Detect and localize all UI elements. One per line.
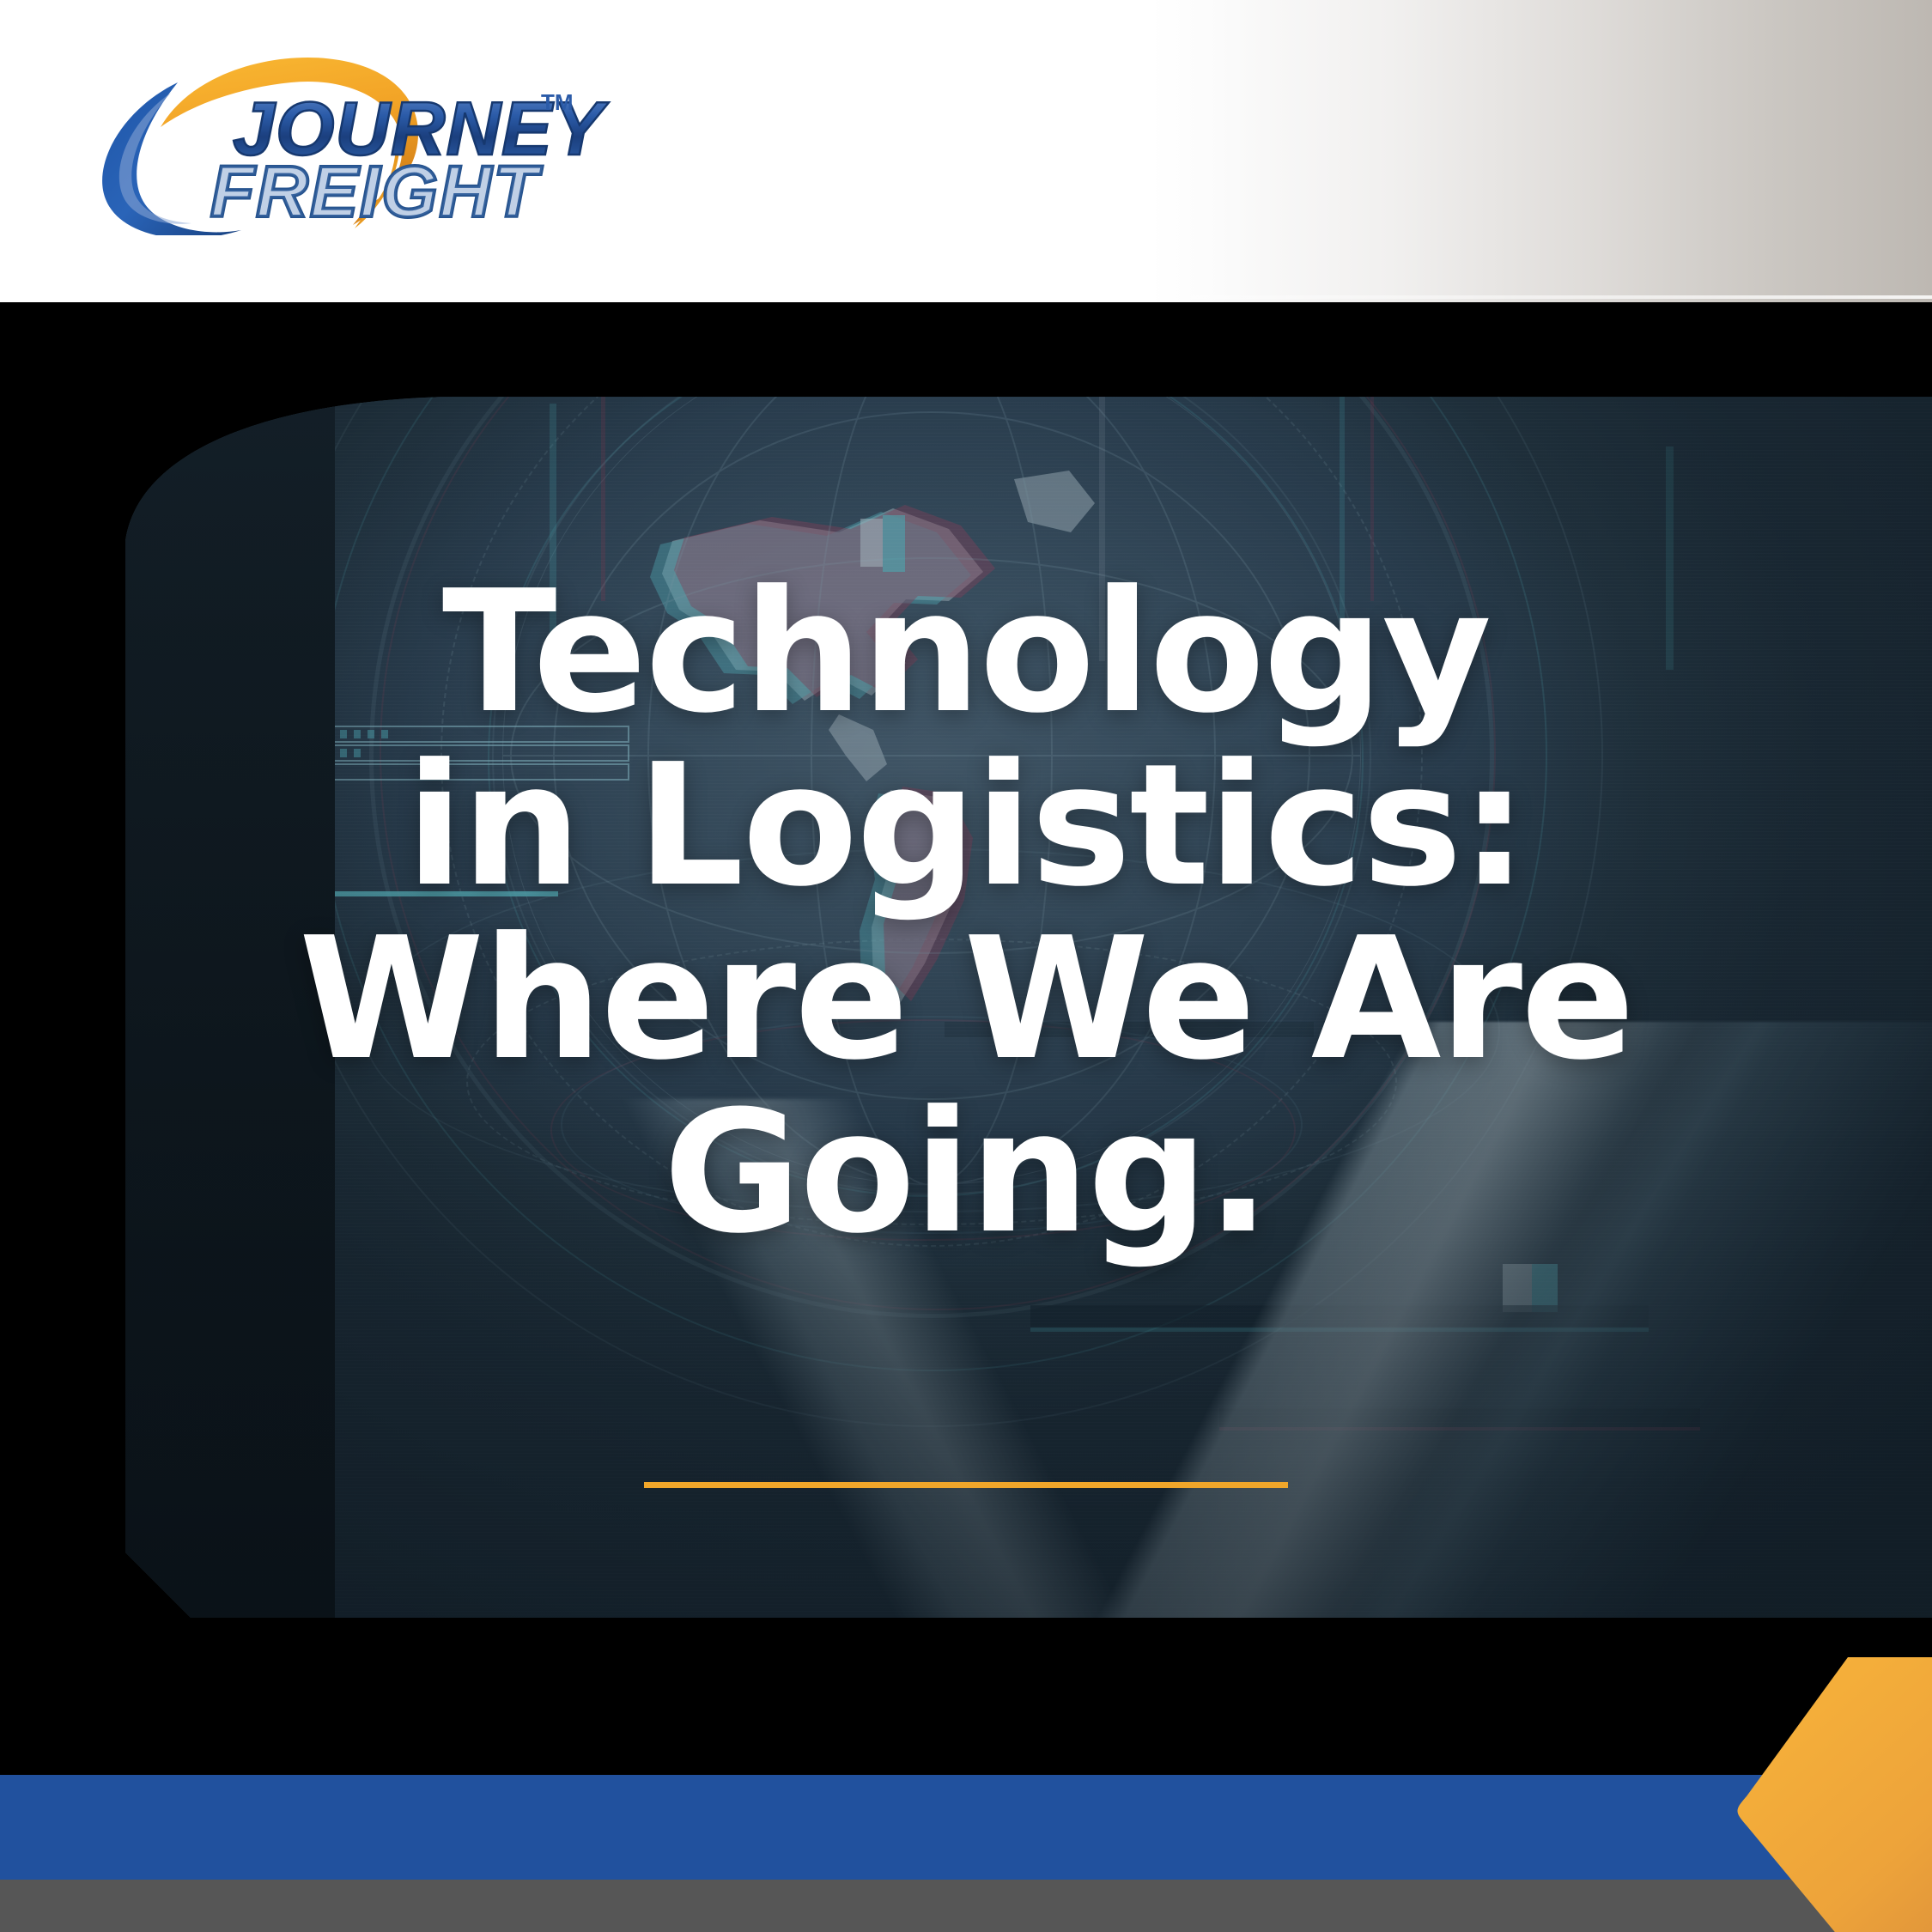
headline-line-3: Where We Are [129,914,1803,1087]
header-hairline [1151,295,1932,299]
social-post-card: JOURNEY JOURNEY TM FREIGHT FREIGHT [0,0,1932,1932]
footer-blue-band [0,1775,1932,1880]
chevron-arrow-icon [1735,1657,1932,1932]
page-title: Technology in Logistics: Where We Are Go… [0,567,1932,1261]
journey-freight-logo[interactable]: JOURNEY JOURNEY TM FREIGHT FREIGHT [82,45,614,235]
headline-line-2: in Logistics: [129,740,1803,914]
svg-text:FREIGHT: FREIGHT [210,151,543,232]
headline-line-1: Technology [129,567,1803,740]
headline-line-4: Going. [129,1087,1803,1261]
accent-divider [644,1482,1288,1488]
logo-trademark: TM [541,89,574,115]
footer-black-band [0,1618,1932,1775]
footer-gray-band [0,1880,1932,1932]
